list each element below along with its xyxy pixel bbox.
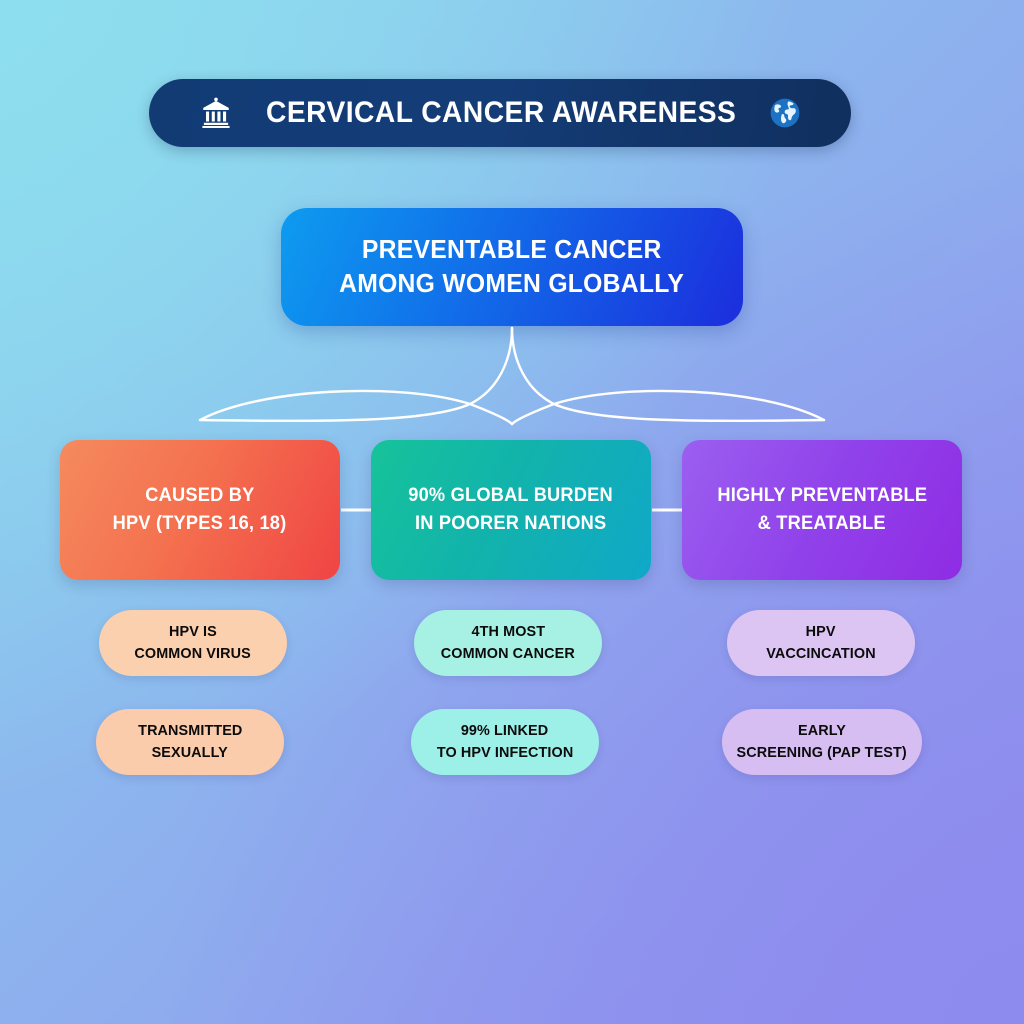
sub-1-1-line1: 99% LINKED <box>461 720 548 743</box>
sub-2-1-line1: EARLY <box>798 720 846 743</box>
branch-0-line2: HPV (TYPES 16, 18) <box>113 510 287 538</box>
main-node-line2: AMONG WOMEN GLOBALLY <box>339 267 684 301</box>
branch-card-caused-by: CAUSED BY HPV (TYPES 16, 18) <box>60 440 340 580</box>
bank-icon <box>199 96 233 130</box>
sub-pill-99-linked-hpv: 99% LINKED TO HPV INFECTION <box>411 709 599 775</box>
sub-pill-early-screening: EARLY SCREENING (PAP TEST) <box>722 709 922 775</box>
sub-0-0-line1: HPV IS <box>169 621 217 644</box>
branch-card-preventable-treatable: HIGHLY PREVENTABLE & TREATABLE <box>682 440 962 580</box>
sub-pill-4th-most-common-cancer: 4TH MOST COMMON CANCER <box>414 610 602 676</box>
sub-1-0-line2: COMMON CANCER <box>441 643 575 666</box>
sub-2-1-line2: SCREENING (PAP TEST) <box>737 742 907 765</box>
sub-0-1-line1: TRANSMITTED <box>138 720 242 743</box>
sub-pill-hpv-vaccination: HPV VACCINCATION <box>727 610 915 676</box>
sub-0-0-line2: COMMON VIRUS <box>135 643 251 666</box>
globe-icon <box>769 97 801 129</box>
sub-2-0-line2: VACCINCATION <box>766 643 875 666</box>
sub-pill-hpv-common-virus: HPV IS COMMON VIRUS <box>99 610 287 676</box>
main-node: PREVENTABLE CANCER AMONG WOMEN GLOBALLY <box>281 208 743 326</box>
branch-2-line2: & TREATABLE <box>758 510 886 538</box>
infographic-canvas: CERVICAL CANCER AWARENESS PREVENTABLE CA… <box>0 0 1024 1024</box>
connector-right-outer <box>512 391 824 424</box>
branch-1-line1: 90% GLOBAL BURDEN <box>409 482 614 510</box>
connector-right <box>512 328 824 421</box>
sub-2-0-line1: HPV <box>806 621 836 644</box>
page-title: CERVICAL CANCER AWARENESS <box>266 96 736 130</box>
sub-0-1-line2: SEXUALLY <box>152 742 228 765</box>
main-node-line1: PREVENTABLE CANCER <box>362 233 662 267</box>
connector-left <box>200 328 512 421</box>
branch-1-line2: IN POORER NATIONS <box>415 510 606 538</box>
branch-card-global-burden: 90% GLOBAL BURDEN IN POORER NATIONS <box>371 440 651 580</box>
sub-pill-transmitted-sexually: TRANSMITTED SEXUALLY <box>96 709 284 775</box>
sub-1-0-line1: 4TH MOST <box>471 621 545 644</box>
connector-left-outer <box>200 391 512 424</box>
branch-2-line1: HIGHLY PREVENTABLE <box>717 482 927 510</box>
branch-0-line1: CAUSED BY <box>145 482 254 510</box>
header-banner: CERVICAL CANCER AWARENESS <box>149 79 851 147</box>
sub-1-1-line2: TO HPV INFECTION <box>437 742 573 765</box>
